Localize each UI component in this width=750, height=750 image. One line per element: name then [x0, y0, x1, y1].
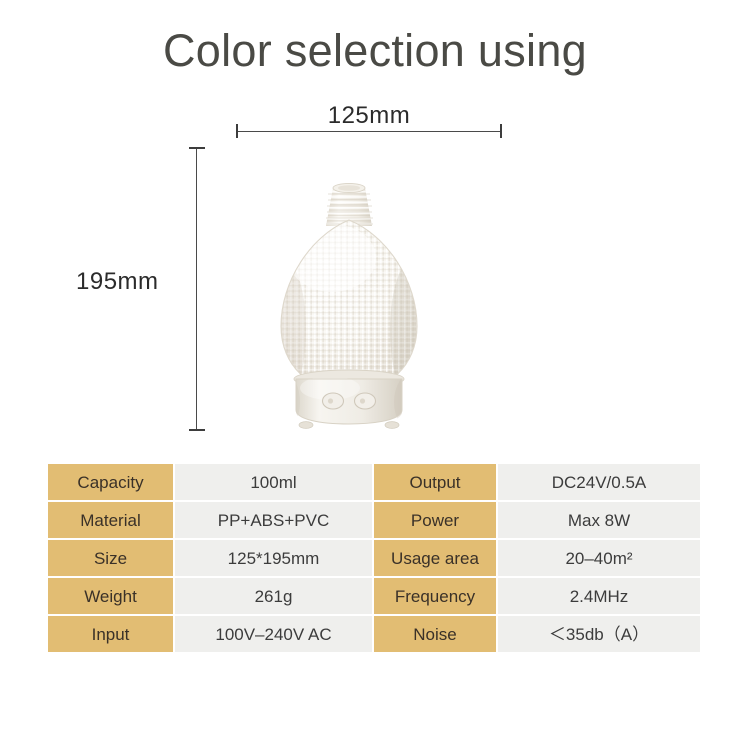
width-dimension-line — [236, 131, 502, 132]
height-dimension-line — [196, 147, 197, 431]
spec-value-usage-area: 20–40m² — [496, 540, 700, 576]
height-dimension-cap-top — [189, 147, 205, 149]
height-dimension-cap-bottom — [189, 429, 205, 431]
product-dimension-diagram: 125mm 195mm — [0, 0, 750, 455]
spec-label-size: Size — [48, 540, 173, 576]
spec-label-frequency: Frequency — [374, 578, 496, 614]
spec-label-capacity: Capacity — [48, 464, 173, 500]
spec-value-input: 100V–240V AC — [173, 616, 374, 652]
width-dimension-cap-right — [500, 124, 502, 138]
spec-value-material: PP+ABS+PVC — [173, 502, 374, 538]
width-dimension-label: 125mm — [236, 102, 502, 130]
spec-value-power: Max 8W — [496, 502, 700, 538]
product-image-wicker-diffuser — [254, 180, 444, 432]
spec-value-noise: ＜35db（A） — [496, 616, 700, 652]
spec-label-noise: Noise — [374, 616, 496, 652]
spec-value-weight: 261g — [173, 578, 374, 614]
spec-label-weight: Weight — [48, 578, 173, 614]
spec-label-power: Power — [374, 502, 496, 538]
spec-label-input: Input — [48, 616, 173, 652]
width-dimension-cap-left — [236, 124, 238, 138]
diffuser-base — [264, 370, 434, 432]
spec-value-size: 125*195mm — [173, 540, 374, 576]
spec-value-output: DC24V/0.5A — [496, 464, 700, 500]
specification-table: Capacity 100ml Output DC24V/0.5A Materia… — [48, 464, 700, 652]
height-dimension-label: 195mm — [76, 268, 196, 296]
spec-value-capacity: 100ml — [173, 464, 374, 500]
spec-label-usage-area: Usage area — [374, 540, 496, 576]
spec-value-frequency: 2.4MHz — [496, 578, 700, 614]
spec-label-material: Material — [48, 502, 173, 538]
spec-label-output: Output — [374, 464, 496, 500]
